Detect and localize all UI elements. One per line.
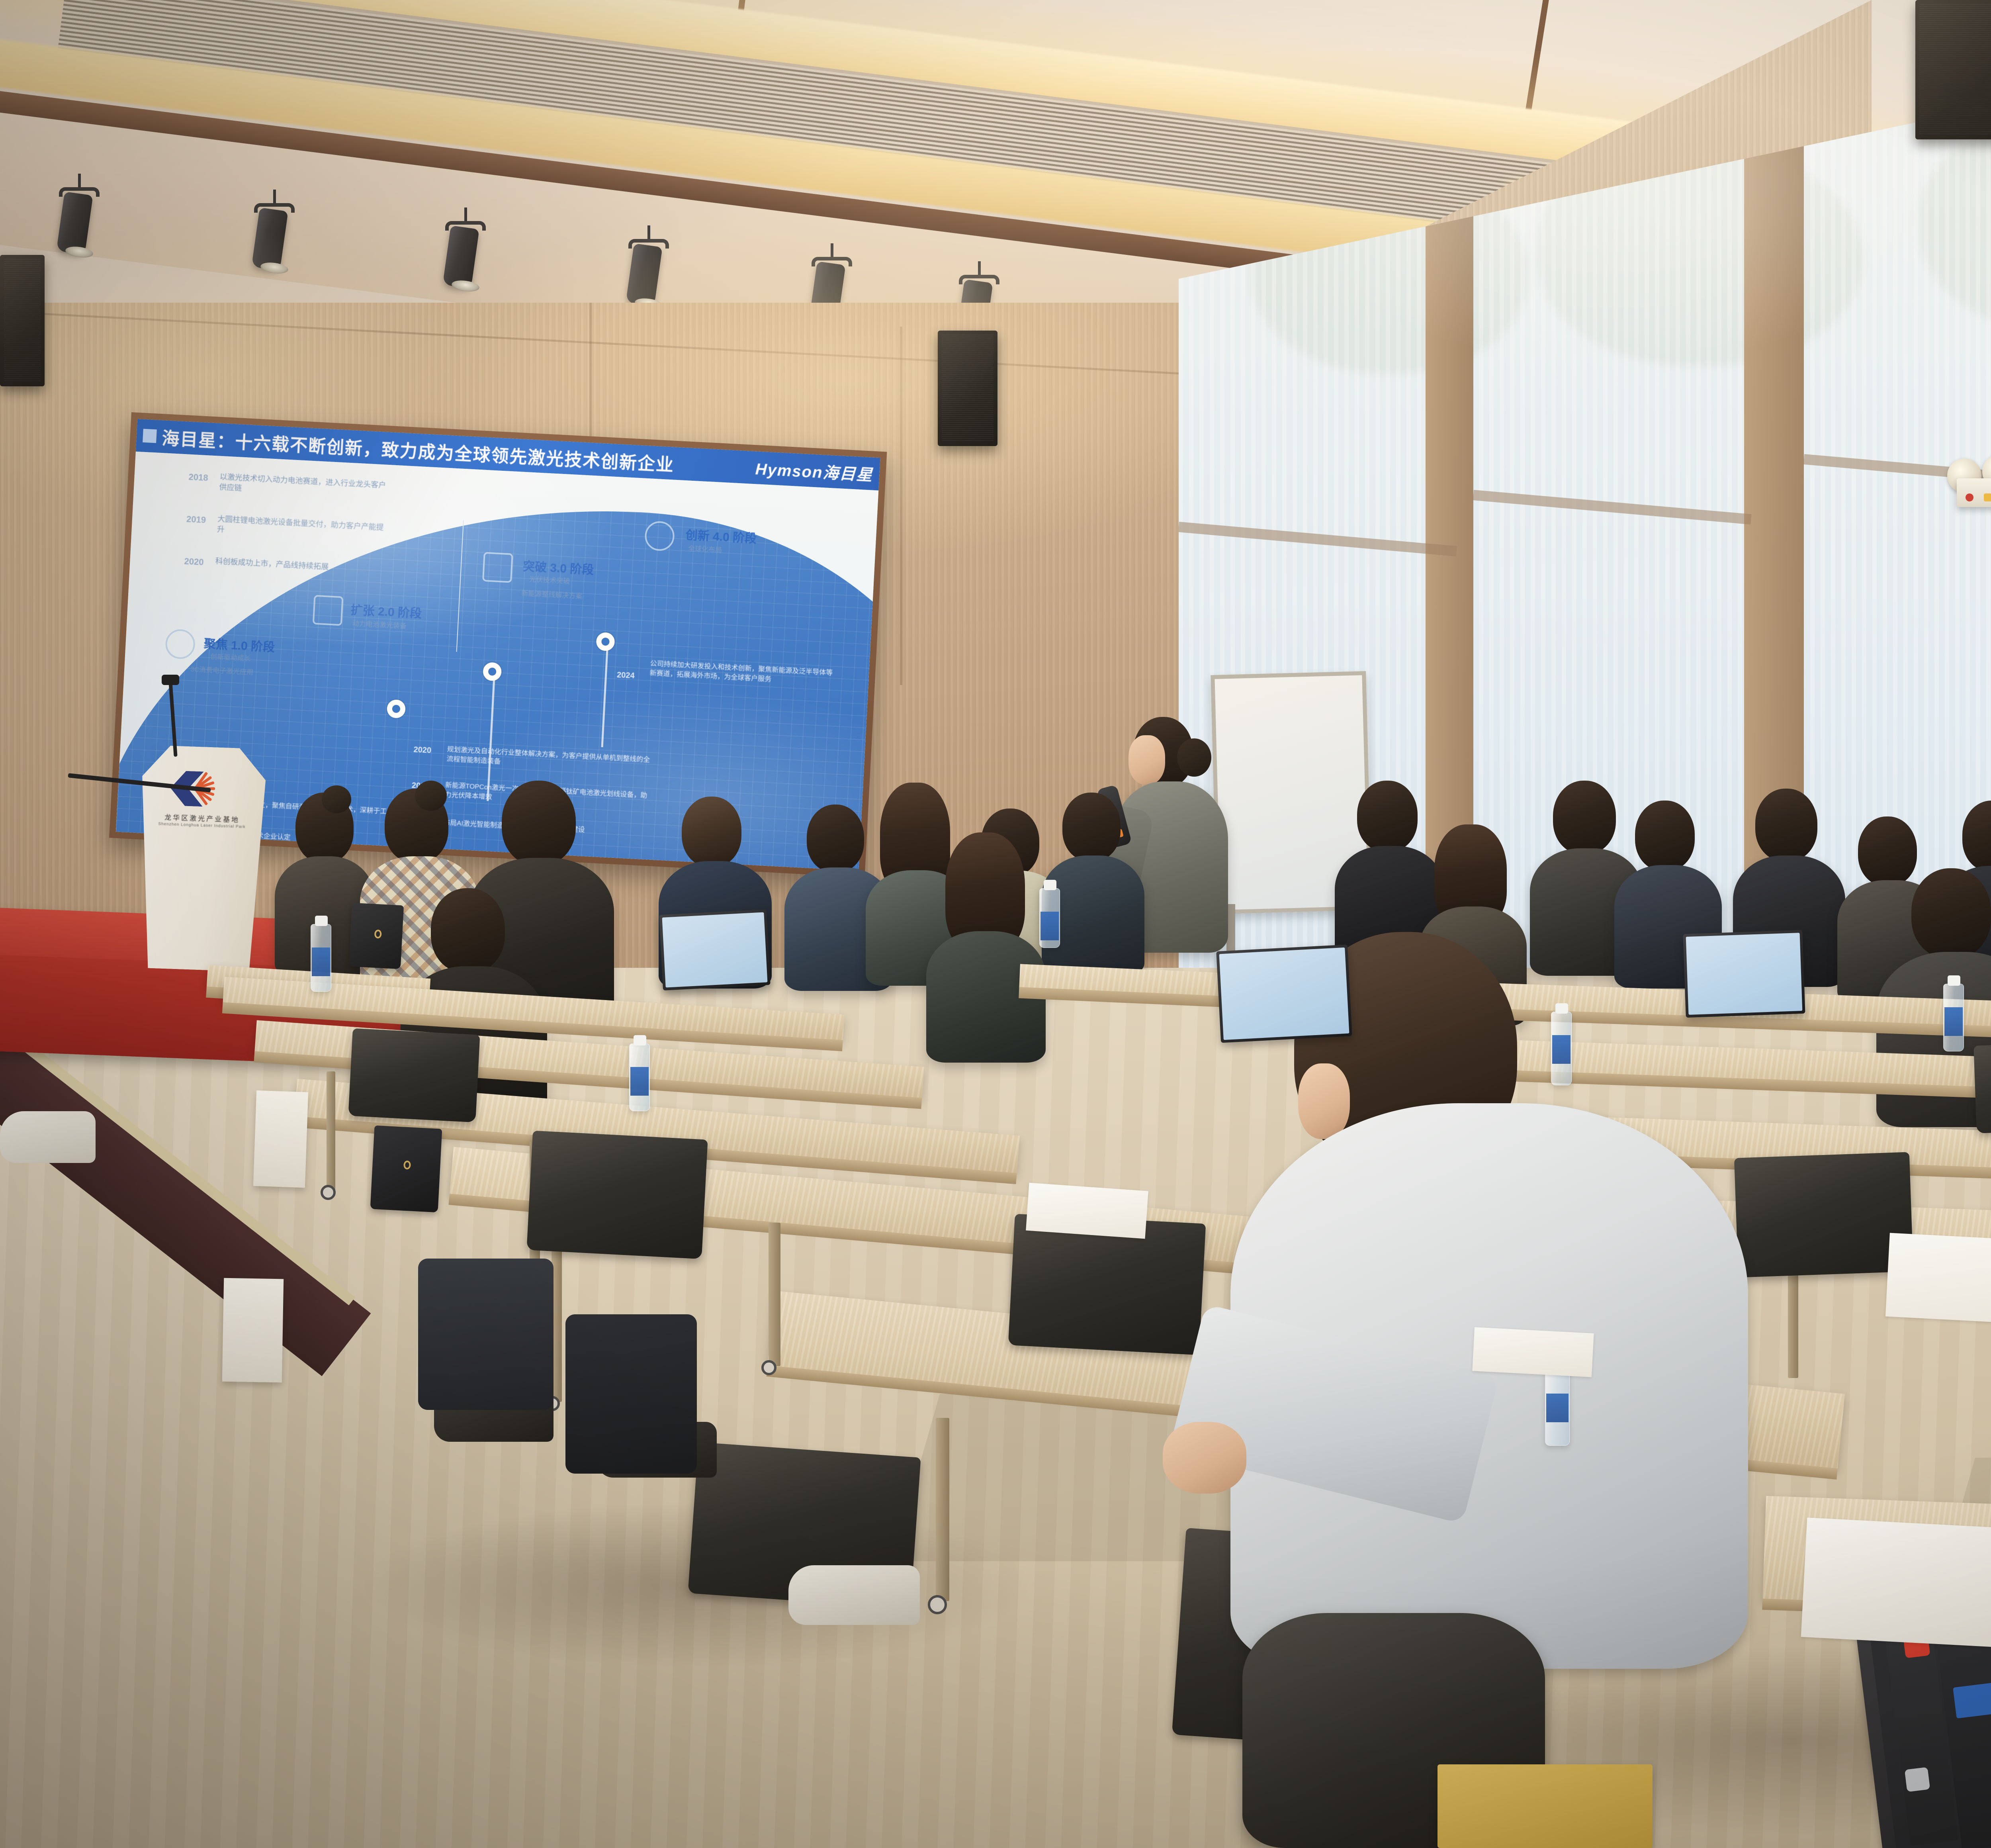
- seated-legs: [565, 1314, 697, 1474]
- laptop[interactable]: [659, 909, 771, 991]
- stage-subtitle: 光伏技术突破: [529, 574, 570, 585]
- conference-room-photo: 海目星：十六载不断创新，致力成为全球领先激光技术创新企业 Hymson海目星 2…: [0, 0, 1991, 1848]
- chair[interactable]: [1734, 1152, 1913, 1277]
- paper-gift-bag[interactable]: [222, 1278, 284, 1383]
- foreground-attendee-ear: [1298, 1063, 1350, 1139]
- chair[interactable]: [526, 1131, 708, 1259]
- wall-speaker: [0, 255, 45, 386]
- water-bottle[interactable]: [1551, 1012, 1572, 1085]
- stage-icon-2: [313, 595, 344, 626]
- shoe: [788, 1565, 920, 1625]
- presenter-hair-bun: [1177, 738, 1211, 777]
- printed-handout[interactable]: [1026, 1183, 1148, 1239]
- laptop[interactable]: [1216, 945, 1352, 1043]
- foreground-attendee-hand: [1163, 1422, 1246, 1494]
- stage-subtitle: 全球化布局: [688, 543, 722, 554]
- printed-handout[interactable]: [1801, 1517, 1991, 1652]
- shoe: [0, 1111, 96, 1163]
- handbag[interactable]: [370, 1126, 442, 1213]
- slide-year: 2020: [413, 745, 432, 755]
- paper-gift-bag[interactable]: [253, 1090, 308, 1188]
- yellow-folder[interactable]: [1438, 1764, 1653, 1848]
- podium: 龙华区激光产业基地 Shenzhen Longhua Laser Industr…: [135, 745, 266, 972]
- slide-year: 2019: [186, 514, 206, 526]
- foreground-attendee: [1230, 932, 1748, 1689]
- laptop[interactable]: [1683, 930, 1805, 1018]
- water-bottle[interactable]: [1039, 888, 1060, 948]
- water-bottle[interactable]: [629, 1043, 650, 1111]
- stage-icon-3: [482, 552, 513, 583]
- chair[interactable]: [1973, 1041, 1991, 1133]
- stage-subtitle: 创新驱动成长: [210, 651, 251, 663]
- printed-handout[interactable]: [1885, 1233, 1991, 1328]
- wall-speaker: [938, 331, 997, 446]
- chair[interactable]: [348, 1028, 480, 1122]
- company-logo-text: Hymson海目星: [755, 456, 874, 485]
- laptop-app-icon: [1905, 1767, 1930, 1792]
- title-bullet-icon: [143, 429, 157, 443]
- presenter-face: [1128, 735, 1165, 785]
- water-bottle[interactable]: [1943, 984, 1964, 1051]
- slide-year: 2020: [184, 556, 204, 568]
- seated-legs: [418, 1259, 553, 1410]
- emergency-light-icon: [1947, 452, 1991, 508]
- podium-microphone-head: [162, 675, 179, 685]
- slide-milestone-text: 大圆柱锂电池激光设备批量交付，助力客户产能提升: [217, 514, 385, 544]
- printed-handout[interactable]: [1472, 1327, 1594, 1377]
- slide-year: 2018: [188, 472, 208, 484]
- wall-speaker: [1915, 0, 1991, 139]
- slide-year: 2024: [617, 671, 635, 681]
- slide-milestone-text: 以激光技术切入动力电池赛道，进入行业龙头客户供应链: [219, 472, 387, 501]
- handbag[interactable]: [349, 903, 404, 969]
- water-bottle[interactable]: [311, 924, 331, 992]
- water-bottle[interactable]: [1545, 1370, 1570, 1446]
- stage-icon-1: [165, 628, 196, 660]
